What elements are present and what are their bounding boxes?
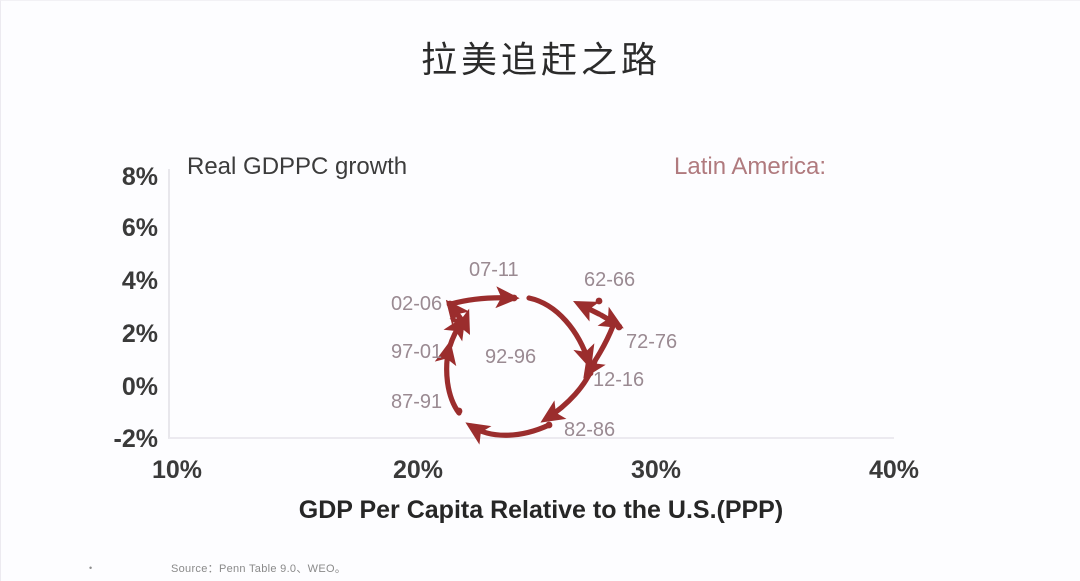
plot-area [168,169,894,439]
period-label-92-96: 92-96 [485,346,536,369]
page-title: 拉美追赶之路 [1,31,1080,83]
y-tick-3: 2% [96,320,158,349]
x-tick-1: 20% [393,456,443,485]
x-axis-ticks: 10% 20% 30% 40% [1,456,1080,496]
legend-latin-america: Latin America: [674,153,826,181]
y-tick-1: 6% [96,214,158,243]
y-tick-4: 0% [96,373,158,402]
period-label-07-11: 07-11 [469,259,519,282]
y-axis-label: Real GDPPC growth [187,153,407,181]
x-tick-2: 30% [631,456,681,485]
period-label-72-76: 72-76 [626,331,677,354]
period-label-97-01: 97-01 [391,341,442,364]
period-label-82-86: 82-86 [564,419,615,442]
period-label-62-66: 62-66 [584,269,635,292]
period-label-12-16: 12-16 [593,369,644,392]
x-tick-3: 40% [869,456,919,485]
y-tick-2: 4% [96,267,158,296]
source-note: Source：Penn Table 9.0、WEO。 [171,560,346,576]
period-label-02-06: 02-06 [391,293,442,316]
x-tick-0: 10% [152,456,202,485]
y-tick-5: -2% [96,425,158,454]
period-label-87-91: 87-91 [391,391,442,414]
presentation-slide: 拉美追赶之路 8% 6% 4% 2% 0% -2% Real GDPPC gro… [0,0,1080,581]
x-axis-label: GDP Per Capita Relative to the U.S.(PPP) [1,496,1080,525]
y-tick-0: 8% [96,163,158,192]
footer-bullet-icon: • [89,563,92,573]
